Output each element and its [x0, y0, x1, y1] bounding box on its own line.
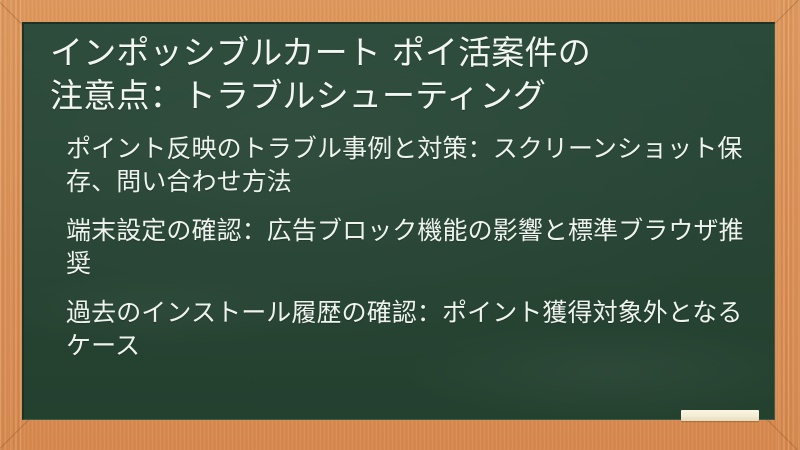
slide-title: インポッシブルカート ポイ活案件の 注意点：トラブルシューティング	[50, 32, 748, 118]
list-item: 過去のインストール履歴の確認：ポイント獲得対象外となるケース	[66, 296, 748, 362]
frame-grain-left	[0, 0, 22, 450]
board-content: インポッシブルカート ポイ活案件の 注意点：トラブルシューティング ポイント反映…	[24, 24, 774, 362]
chalkboard-frame: インポッシブルカート ポイ活案件の 注意点：トラブルシューティング ポイント反映…	[0, 0, 800, 450]
list-item: 端末設定の確認：広告ブロック機能の影響と標準ブラウザ推奨	[66, 214, 748, 280]
chalkboard-surface: インポッシブルカート ポイ活案件の 注意点：トラブルシューティング ポイント反映…	[22, 22, 775, 420]
chalk-stick	[681, 410, 759, 421]
list-item: ポイント反映のトラブル事例と対策：スクリーンショット保存、問い合わせ方法	[66, 132, 748, 198]
frame-grain-right	[778, 0, 800, 450]
key-points-list: ポイント反映のトラブル事例と対策：スクリーンショット保存、問い合わせ方法 端末設…	[50, 132, 748, 362]
